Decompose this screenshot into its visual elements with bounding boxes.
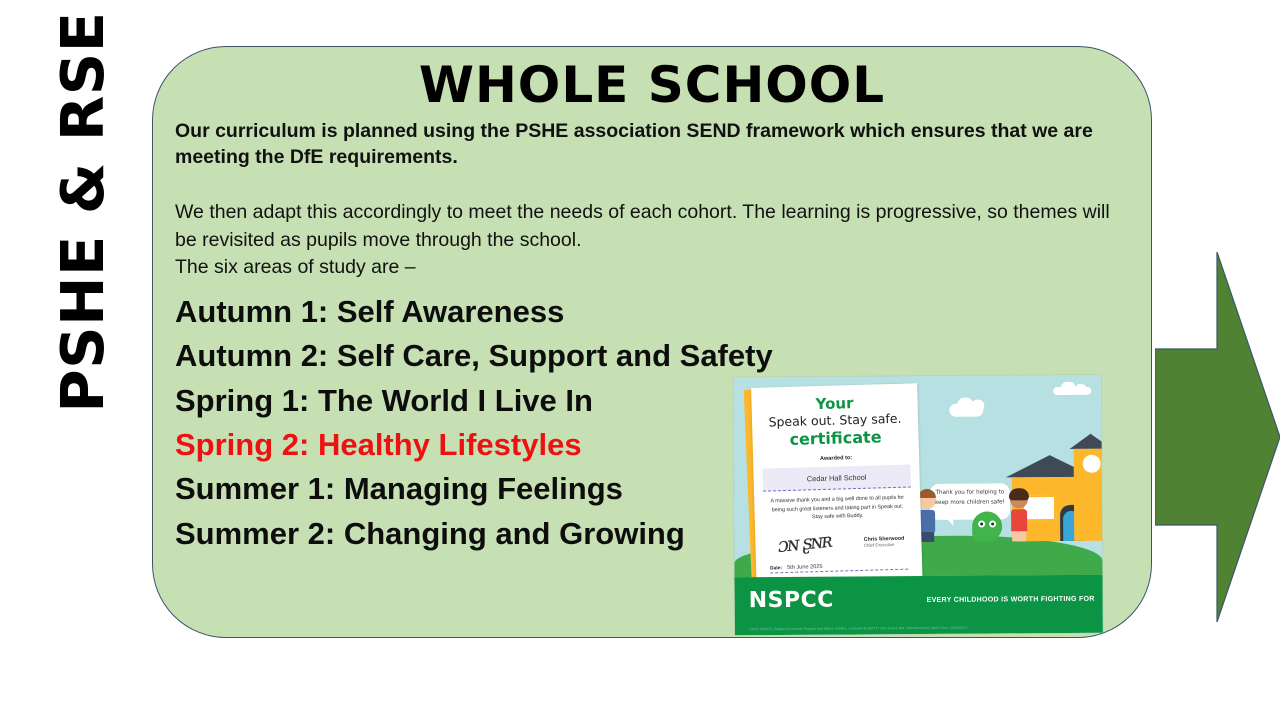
child-illustration-girl bbox=[1010, 490, 1028, 541]
page-title: WHOLE SCHOOL bbox=[153, 59, 1151, 112]
nspcc-tagline: EVERY CHILDHOOD IS WORTH FIGHTING FOR bbox=[927, 595, 1095, 604]
intro-bold-paragraph: Our curriculum is planned using the PSHE… bbox=[175, 119, 1125, 171]
child-hair bbox=[918, 489, 936, 498]
school-tower bbox=[1074, 449, 1103, 541]
signatory-role: Chief Executive bbox=[864, 542, 905, 548]
certificate-date-value: 5th June 2025 bbox=[787, 564, 823, 571]
cloud-icon bbox=[1075, 384, 1086, 393]
sidebar-vertical-title: PSHE & RSE bbox=[42, 12, 122, 412]
cloud-icon bbox=[1061, 382, 1075, 392]
signature-icon: ɔɴ ʂɴʀ bbox=[776, 528, 831, 557]
speech-bubble: Thank you for helping to keep more child… bbox=[930, 483, 1010, 520]
next-arrow-shape bbox=[1155, 252, 1280, 622]
list-item-autumn-1: Autumn 1: Self Awareness bbox=[175, 290, 1125, 334]
certificate-signatory: Chris Sherwood Chief Executive bbox=[864, 536, 905, 548]
certificate-date-row: Date: 5th June 2025 bbox=[770, 561, 908, 573]
child-head bbox=[918, 491, 936, 509]
buddy-eye bbox=[989, 520, 996, 527]
certificate-recipient: Cedar Hall School bbox=[762, 465, 911, 492]
intro-paragraph-2: The six areas of study are – bbox=[175, 254, 1125, 282]
nspcc-certificate-image: Thank you for helping to keep more child… bbox=[733, 375, 1103, 636]
child-head bbox=[1010, 490, 1028, 508]
cloud-icon bbox=[971, 400, 984, 412]
child-body bbox=[919, 510, 935, 532]
clock-icon bbox=[1083, 455, 1101, 473]
intro-paragraph-1: We then adapt this accordingly to meet t… bbox=[175, 199, 1125, 254]
list-item-autumn-2: Autumn 2: Self Care, Support and Safety bbox=[175, 334, 1125, 378]
child-hair bbox=[1009, 488, 1029, 500]
school-tower-roof bbox=[1070, 434, 1103, 449]
next-arrow[interactable] bbox=[1155, 252, 1280, 622]
certificate-footer: NSPCC EVERY CHILDHOOD IS WORTH FIGHTING … bbox=[735, 575, 1103, 636]
child-body bbox=[1011, 509, 1027, 531]
certificate-signature-row: ɔɴ ʂɴʀ Chris Sherwood Chief Executive bbox=[755, 531, 922, 562]
whole-school-panel: WHOLE SCHOOL Our curriculum is planned u… bbox=[152, 46, 1152, 638]
nspcc-smallprint: ©2025 NSPCC. Registered charity England … bbox=[749, 626, 968, 632]
certificate-heading-bottom: certificate bbox=[752, 427, 918, 449]
child-legs bbox=[1012, 531, 1026, 541]
nspcc-logo: NSPCC bbox=[749, 588, 834, 614]
buddy-eye bbox=[978, 521, 985, 528]
paragraph-spacer bbox=[175, 171, 1125, 199]
certificate-date-label: Date: bbox=[770, 566, 782, 571]
child-legs bbox=[920, 532, 934, 542]
certificate-paper: Your Speak out. Stay safe. certificate A… bbox=[751, 383, 923, 589]
buddy-mascot-icon bbox=[972, 511, 1002, 541]
certificate-awarded-label: Awarded to: bbox=[753, 453, 919, 464]
certificate-heading: Your Speak out. Stay safe. certificate bbox=[751, 383, 919, 449]
certificate-blurb: A massive thank you and a big well done … bbox=[770, 494, 905, 523]
